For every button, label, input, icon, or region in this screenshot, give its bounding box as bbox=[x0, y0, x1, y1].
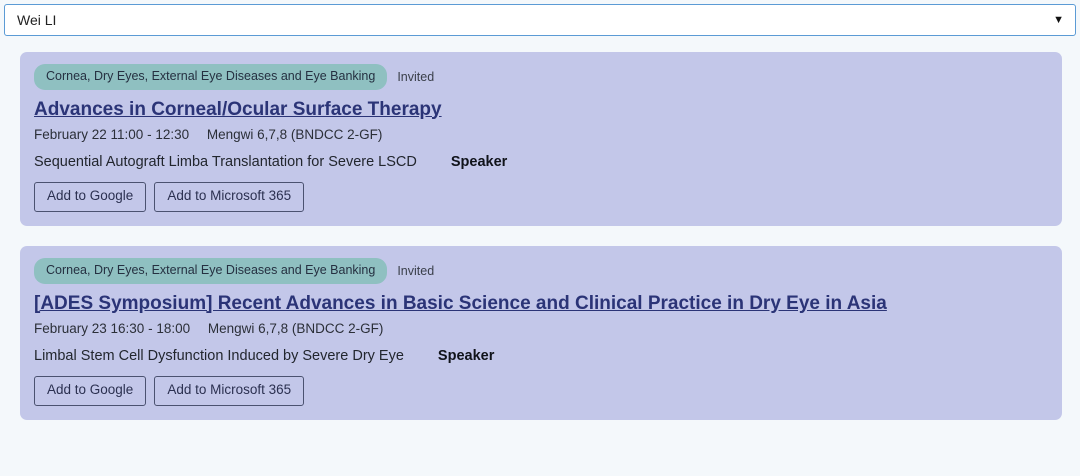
session-meta-row: Cornea, Dry Eyes, External Eye Diseases … bbox=[34, 64, 1048, 90]
talk-title: Sequential Autograft Limba Translantatio… bbox=[34, 154, 417, 170]
session-schedule: February 23 16:30 - 18:00 Mengwi 6,7,8 (… bbox=[34, 321, 1048, 336]
session-venue: Mengwi 6,7,8 (BNDCC 2-GF) bbox=[207, 127, 383, 142]
session-schedule: February 22 11:00 - 12:30 Mengwi 6,7,8 (… bbox=[34, 127, 1048, 142]
speaker-select[interactable]: Wei LI bbox=[4, 4, 1076, 36]
invited-label: Invited bbox=[397, 70, 434, 84]
session-card: Cornea, Dry Eyes, External Eye Diseases … bbox=[20, 246, 1062, 420]
add-to-microsoft-button[interactable]: Add to Microsoft 365 bbox=[154, 182, 304, 212]
session-card: Cornea, Dry Eyes, External Eye Diseases … bbox=[20, 52, 1062, 226]
talk-role: Speaker bbox=[438, 348, 494, 364]
talk-title: Limbal Stem Cell Dysfunction Induced by … bbox=[34, 348, 404, 364]
add-to-microsoft-button[interactable]: Add to Microsoft 365 bbox=[154, 376, 304, 406]
session-title-link[interactable]: Advances in Corneal/Ocular Surface Thera… bbox=[34, 98, 442, 122]
talk-row: Sequential Autograft Limba Translantatio… bbox=[34, 154, 1048, 170]
session-meta-row: Cornea, Dry Eyes, External Eye Diseases … bbox=[34, 258, 1048, 284]
session-title-link[interactable]: [ADES Symposium] Recent Advances in Basi… bbox=[34, 292, 887, 316]
calendar-buttons: Add to Google Add to Microsoft 365 bbox=[34, 182, 1048, 212]
calendar-buttons: Add to Google Add to Microsoft 365 bbox=[34, 376, 1048, 406]
session-venue: Mengwi 6,7,8 (BNDCC 2-GF) bbox=[208, 321, 384, 336]
invited-label: Invited bbox=[397, 264, 434, 278]
add-to-google-button[interactable]: Add to Google bbox=[34, 376, 146, 406]
topic-badge: Cornea, Dry Eyes, External Eye Diseases … bbox=[34, 64, 387, 90]
session-datetime: February 22 11:00 - 12:30 bbox=[34, 127, 189, 142]
add-to-google-button[interactable]: Add to Google bbox=[34, 182, 146, 212]
talk-row: Limbal Stem Cell Dysfunction Induced by … bbox=[34, 348, 1048, 364]
topic-badge: Cornea, Dry Eyes, External Eye Diseases … bbox=[34, 258, 387, 284]
speaker-filter[interactable]: Wei LI ▼ bbox=[4, 4, 1076, 36]
session-list: Cornea, Dry Eyes, External Eye Diseases … bbox=[0, 36, 1080, 420]
talk-role: Speaker bbox=[451, 154, 507, 170]
session-datetime: February 23 16:30 - 18:00 bbox=[34, 321, 190, 336]
